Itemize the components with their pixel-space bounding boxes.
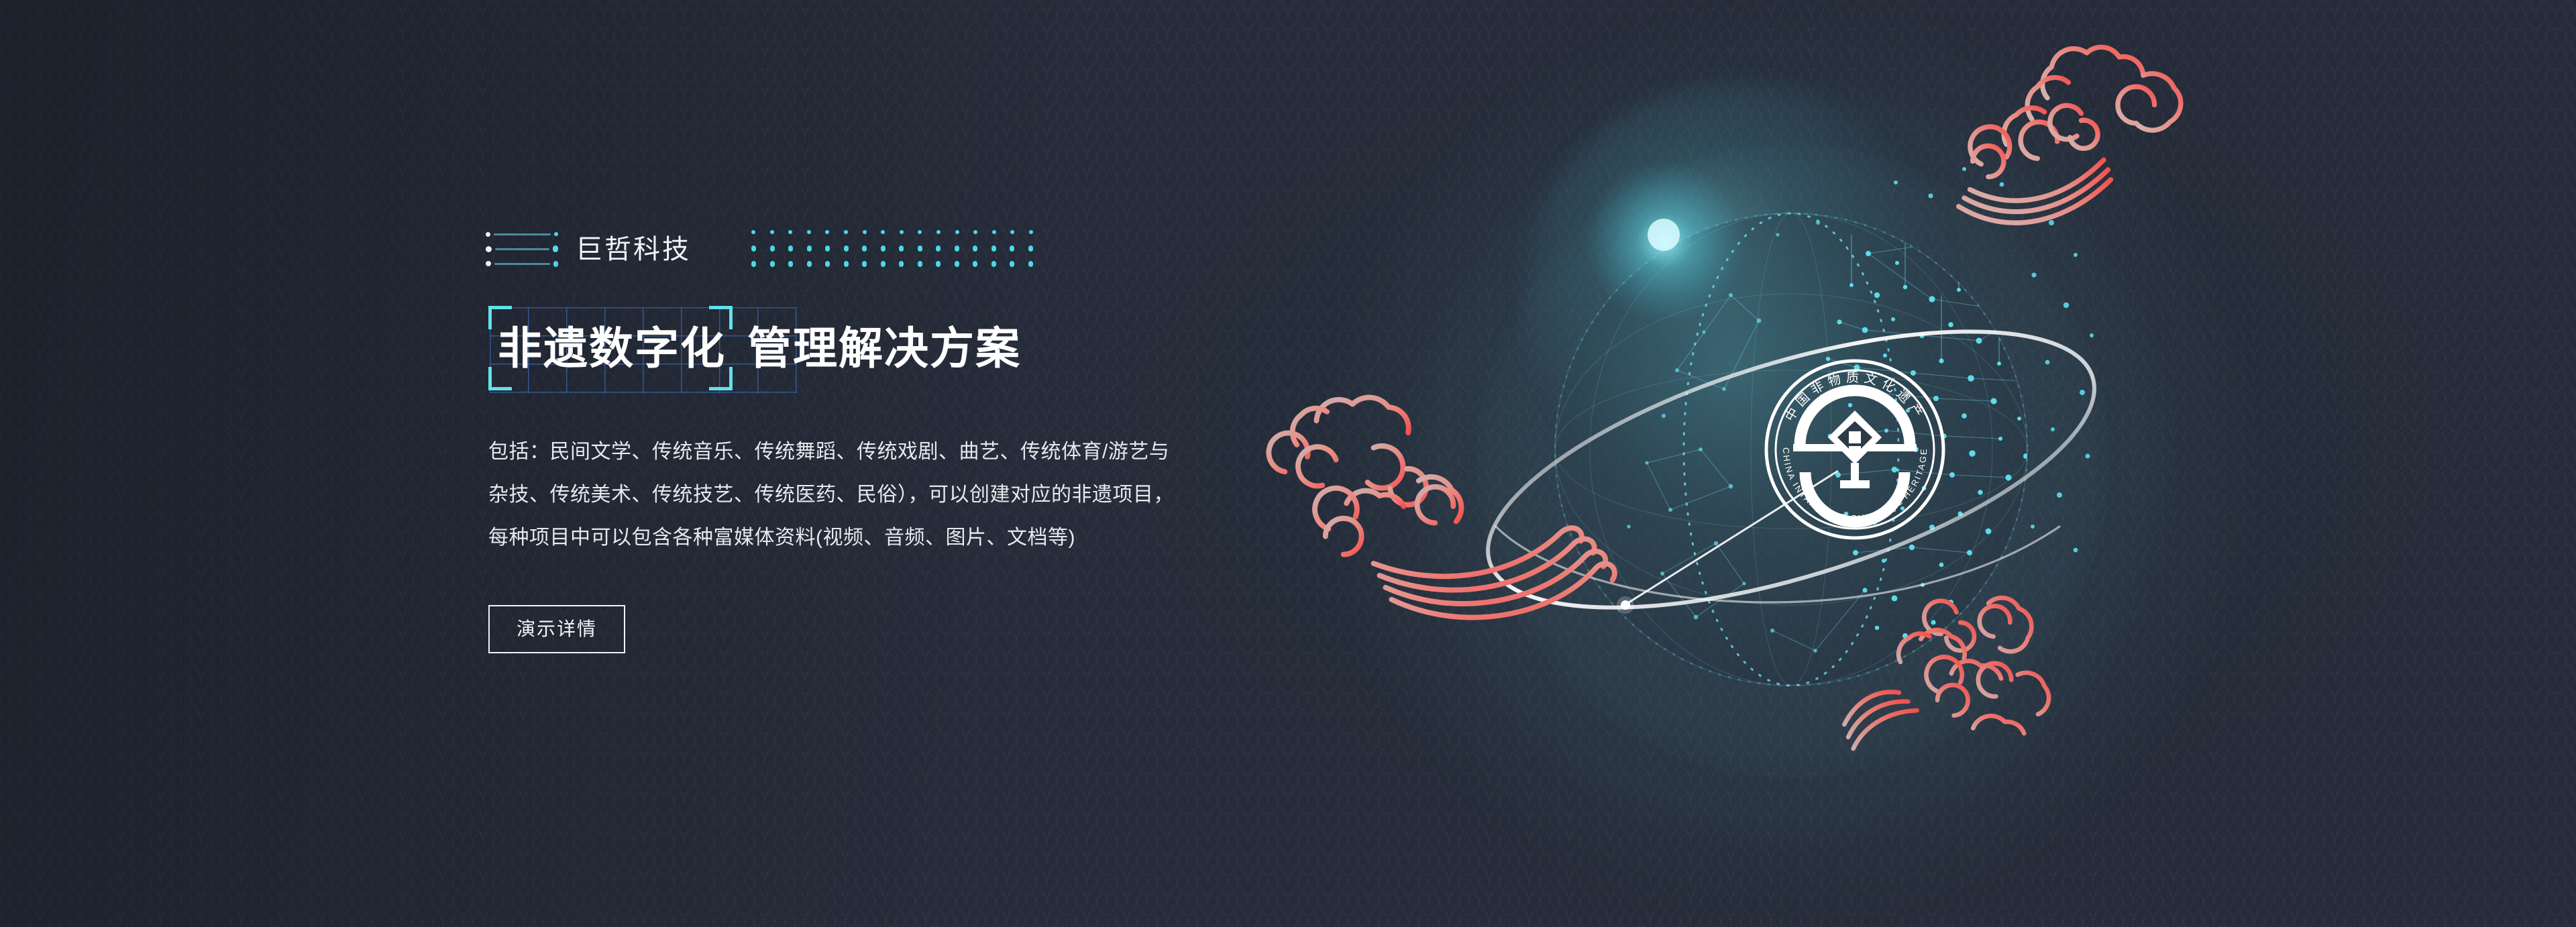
three-line-decoration-icon	[486, 229, 558, 270]
hero-banner: 中国非物质文化遗产 CHINA INTANGIBLE CULTURAL HERI…	[0, 0, 2576, 927]
seigaiha-background-pattern	[0, 0, 2576, 927]
description-text: 包括：民间文学、传统音乐、传统舞蹈、传统戏剧、曲艺、传统体育/游艺与杂技、传统美…	[488, 431, 1179, 559]
demo-details-button[interactable]: 演示详情	[488, 605, 625, 653]
headline-rest-text: 管理解决方案	[747, 326, 1021, 370]
headline-accent-frame: 非遗数字化	[488, 326, 733, 370]
dot-grid-decoration-icon	[751, 229, 1033, 268]
brand-name: 巨哲科技	[576, 236, 691, 263]
headline-accent-text: 非遗数字化	[498, 323, 726, 373]
page-title: 非遗数字化 管理解决方案	[488, 298, 1226, 398]
brand-row: 巨哲科技	[488, 225, 1226, 274]
hero-content: 巨哲科技 非遗数字化 管理解决方案 包括：民间文学、传统音乐、传统舞蹈、传统戏剧…	[488, 225, 1226, 653]
